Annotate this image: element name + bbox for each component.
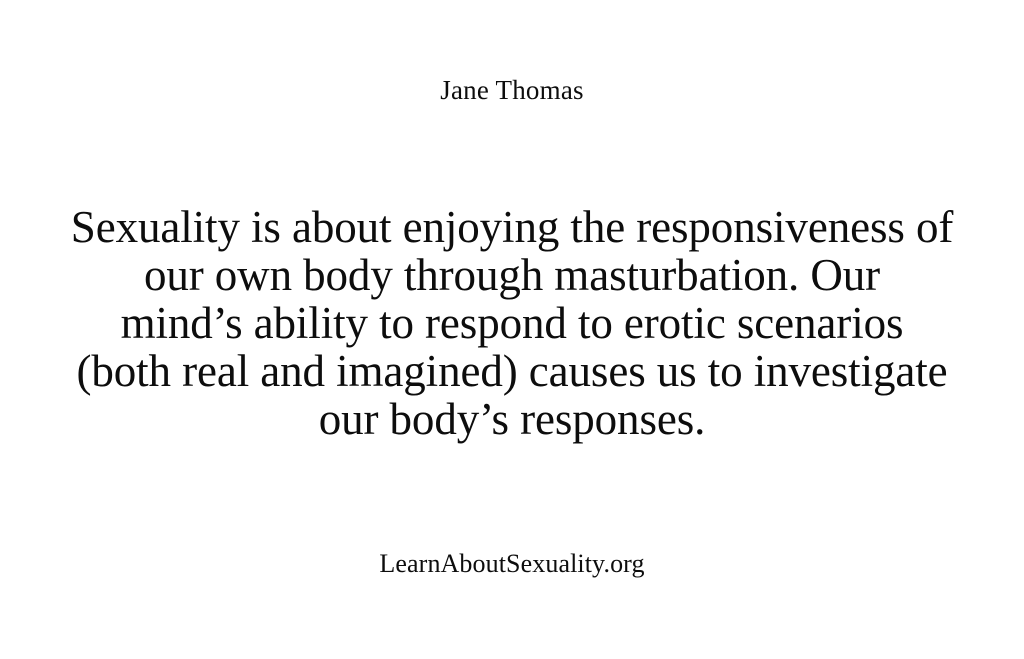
quote-line: (both real and imagined) causes us to in… [37, 347, 987, 395]
quote-author: Jane Thomas [0, 74, 1024, 106]
quote-line: our own body through masturbation. Our [37, 251, 987, 299]
quote-line: Sexuality is about enjoying the responsi… [37, 203, 987, 251]
quote-line: mind’s ability to respond to erotic scen… [37, 299, 987, 347]
quote-text: Sexuality is about enjoying the responsi… [37, 203, 987, 443]
quote-card: Jane Thomas Sexuality is about enjoying … [0, 0, 1024, 659]
source-website: LearnAboutSexuality.org [0, 548, 1024, 579]
quote-line: our body’s responses. [37, 395, 987, 443]
